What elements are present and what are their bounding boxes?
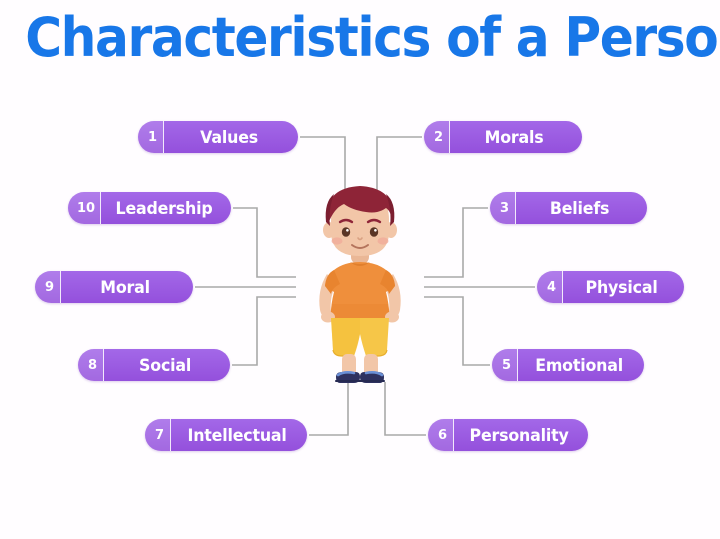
pill-number-badge: 8 <box>78 349 104 381</box>
connector-3 <box>424 208 488 277</box>
pill-number-badge: 5 <box>492 349 518 381</box>
characteristic-pill-personality[interactable]: 6Personality <box>428 419 588 451</box>
pill-number-badge: 1 <box>138 121 164 153</box>
characteristic-pill-beliefs[interactable]: 3Beliefs <box>490 192 647 224</box>
pill-label: Morals <box>453 121 580 153</box>
connector-5 <box>424 297 490 365</box>
pill-number-badge: 9 <box>35 271 61 303</box>
pill-label: Leadership <box>104 192 229 224</box>
pill-label: Social <box>107 349 228 381</box>
pill-label: Values <box>167 121 296 153</box>
boy-illustration <box>300 178 420 390</box>
characteristic-pill-morals[interactable]: 2Morals <box>424 121 582 153</box>
pill-label: Emotional <box>521 349 642 381</box>
pill-label: Beliefs <box>519 192 645 224</box>
characteristic-pill-moral[interactable]: 9Moral <box>35 271 193 303</box>
characteristic-pill-emotional[interactable]: 5Emotional <box>492 349 644 381</box>
pill-number-badge: 4 <box>537 271 563 303</box>
pill-number-badge: 10 <box>68 192 101 224</box>
infographic-canvas: Characteristics of a Person <box>0 0 720 539</box>
pill-label: Personality <box>457 419 586 451</box>
pill-number-badge: 6 <box>428 419 454 451</box>
pill-number-badge: 7 <box>145 419 171 451</box>
pill-number-badge: 3 <box>490 192 516 224</box>
pill-label: Physical <box>565 271 681 303</box>
pill-label: Moral <box>64 271 191 303</box>
pill-number-badge: 2 <box>424 121 450 153</box>
characteristic-pill-intellectual[interactable]: 7Intellectual <box>145 419 307 451</box>
characteristic-pill-physical[interactable]: 4Physical <box>537 271 684 303</box>
characteristic-pill-values[interactable]: 1Values <box>138 121 298 153</box>
connector-10 <box>233 208 296 277</box>
characteristic-pill-social[interactable]: 8Social <box>78 349 230 381</box>
connector-8 <box>232 297 296 365</box>
pill-label: Intellectual <box>174 419 305 451</box>
characteristic-pill-leadership[interactable]: 10Leadership <box>68 192 231 224</box>
